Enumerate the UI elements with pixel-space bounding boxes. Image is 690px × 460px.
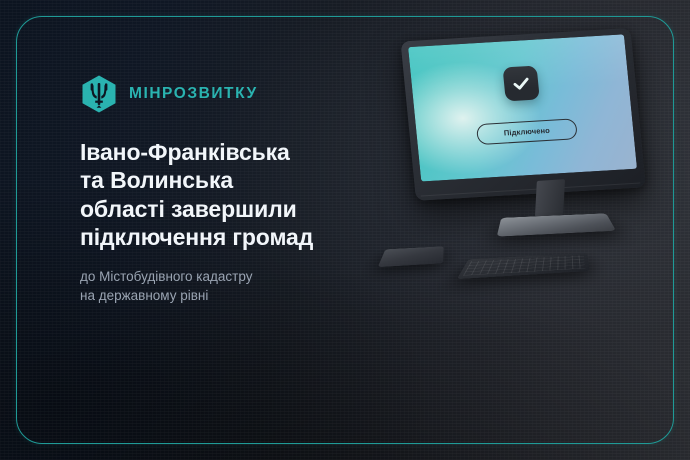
headline-line-3: області завершили [80, 195, 400, 223]
subtitle-line-1: до Містобудівного кадастру [80, 267, 400, 286]
page-title: Івано-Франківська та Волинська області з… [80, 138, 400, 251]
monitor-screen: Підключено [408, 34, 637, 181]
keyboard-keys [463, 255, 585, 276]
keyboard [457, 253, 590, 279]
trackpad [378, 246, 444, 267]
brand-name: МІНРОЗВИТКУ [129, 85, 258, 103]
monitor-stand-neck [535, 179, 565, 217]
headline-line-2: та Волинська [80, 166, 400, 194]
desktop-monitor-scene: Підключено [368, 14, 690, 324]
content-column: МІНРОЗВИТКУ Івано-Франківська та Волинсь… [80, 74, 400, 305]
page-subtitle: до Містобудівного кадастру на державному… [80, 267, 400, 305]
subtitle-line-2: на державному рівні [80, 286, 400, 305]
promo-card: МІНРОЗВИТКУ Івано-Франківська та Волинсь… [0, 0, 690, 460]
brand-lockup: МІНРОЗВИТКУ [80, 74, 400, 114]
checkmark-icon [503, 66, 540, 102]
headline-line-4: підключення громад [80, 223, 400, 251]
headline-line-1: Івано-Франківська [80, 138, 400, 166]
status-badge: Підключено [476, 118, 578, 145]
status-badge-label: Підключено [503, 126, 550, 138]
monitor: Підключено [401, 28, 646, 201]
ukraine-trident-hexagon-icon [80, 74, 118, 114]
monitor-stand-base [497, 213, 616, 236]
